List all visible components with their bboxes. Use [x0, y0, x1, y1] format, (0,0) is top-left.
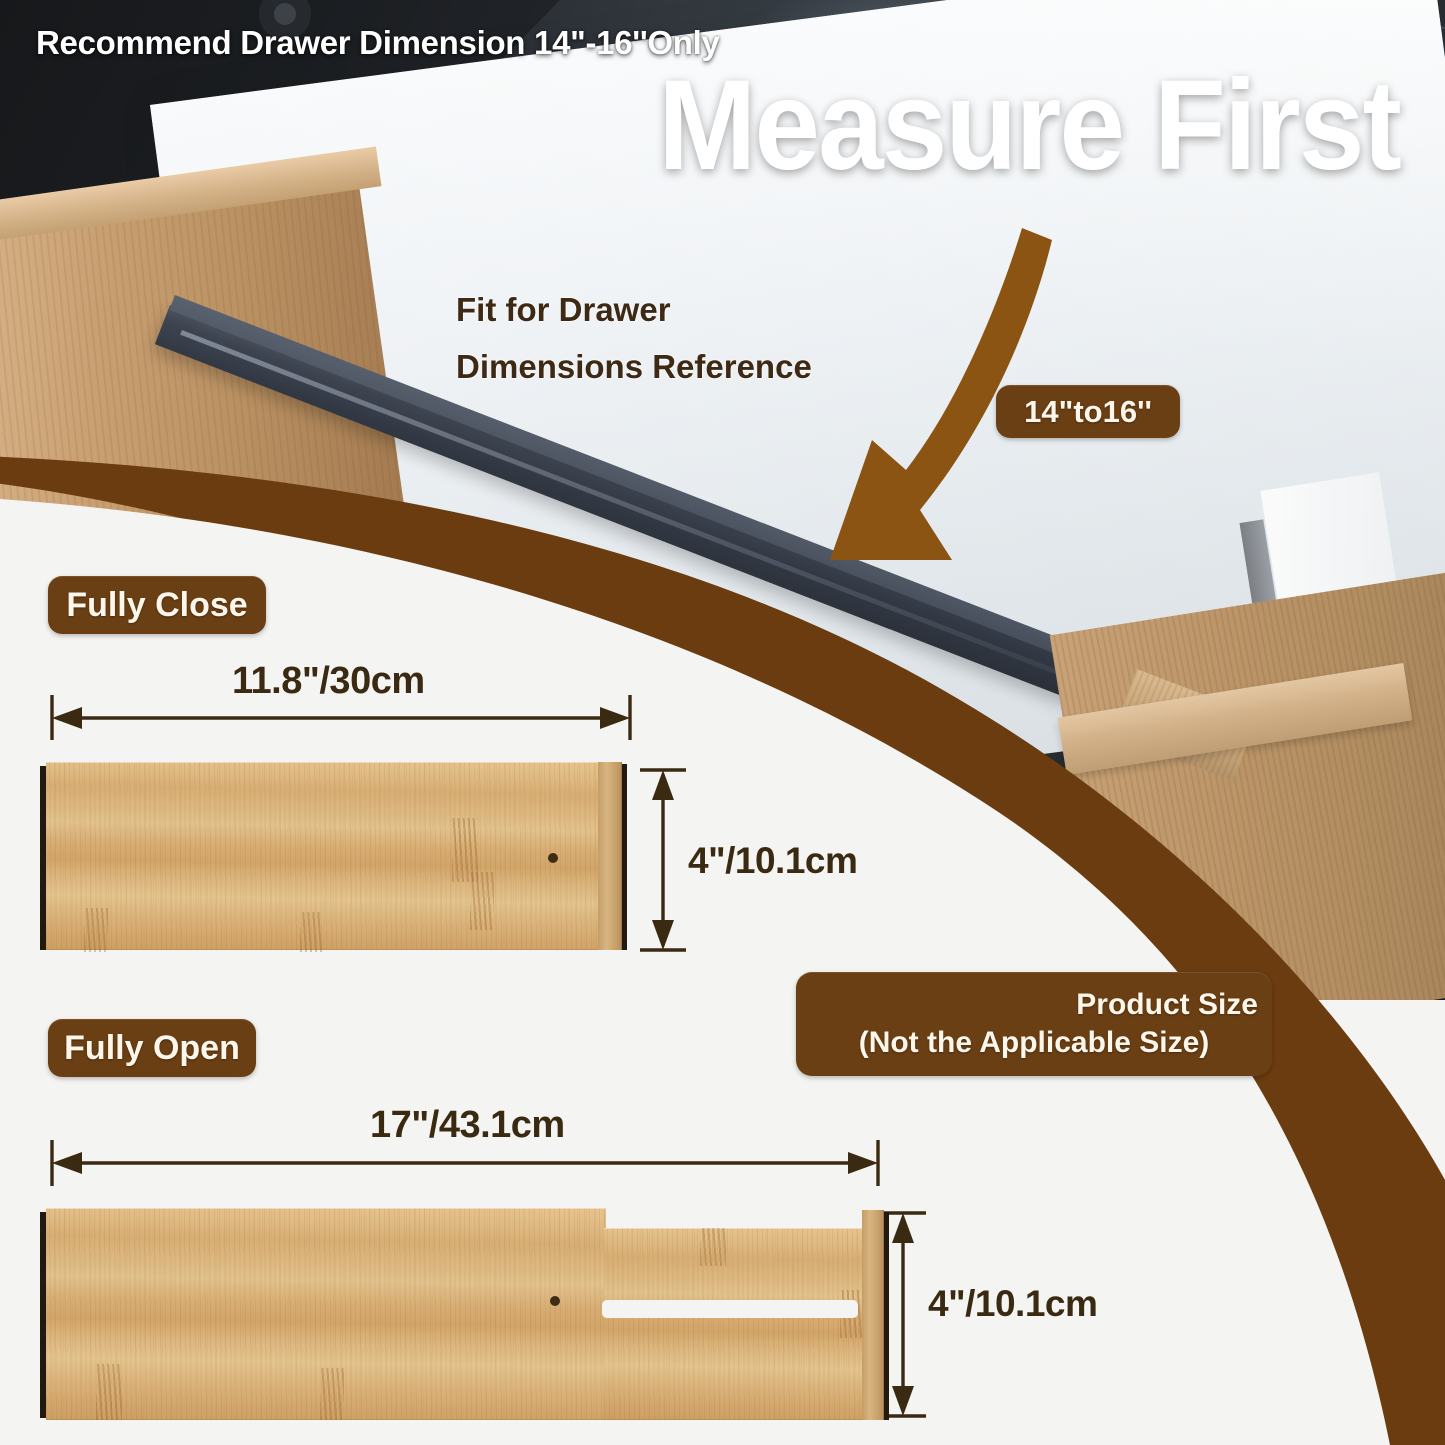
infographic-canvas: Recommend Drawer Dimension 14"-16''Only …: [0, 0, 1445, 1445]
bamboo-knot-mark: [700, 1228, 726, 1266]
product-size-note-line-1: Product Size: [806, 986, 1262, 1024]
slide-track-slot: [602, 1300, 858, 1318]
fully-close-badge: Fully Close: [48, 576, 266, 634]
fit-for-drawer-callout: Fit for Drawer Dimensions Reference: [456, 282, 812, 396]
bamboo-knot-mark: [320, 1368, 344, 1420]
product-size-note-line-2: (Not the Applicable Size): [859, 1024, 1210, 1062]
closed-width-label: 11.8"/30cm: [232, 660, 425, 703]
closed-height-label: 4"/10.1cm: [688, 840, 857, 882]
fully-open-badge: Fully Open: [48, 1019, 256, 1077]
open-height-label: 4"/10.1cm: [928, 1283, 1097, 1325]
open-board-peg-hole: [550, 1296, 560, 1306]
bamboo-knot-mark: [470, 872, 494, 930]
product-size-note-badge: Product Size (Not the Applicable Size): [796, 972, 1272, 1076]
drawer-front-wood-panel: [1050, 570, 1445, 1000]
bamboo-knot-mark: [84, 908, 108, 952]
page-title: Measure First: [112, 62, 1400, 190]
open-width-label: 17"/43.1cm: [370, 1104, 565, 1147]
open-board-right-cap: [862, 1210, 884, 1420]
drawer-range-badge: 14"to16'': [996, 385, 1180, 438]
callout-line-2: Dimensions Reference: [456, 339, 812, 396]
open-divider-slide-arm: [604, 1228, 870, 1420]
closed-board-peg-hole: [548, 853, 558, 863]
kicker-text: Recommend Drawer Dimension 14"-16''Only: [36, 24, 720, 62]
closed-divider-board: [46, 762, 608, 950]
bamboo-knot-mark: [300, 912, 322, 952]
bamboo-knot-mark: [96, 1364, 122, 1420]
closed-board-right-cap: [598, 762, 622, 950]
open-board-right-shadow: [884, 1212, 889, 1420]
closed-board-right-shadow: [622, 764, 627, 950]
callout-line-1: Fit for Drawer: [456, 282, 812, 339]
